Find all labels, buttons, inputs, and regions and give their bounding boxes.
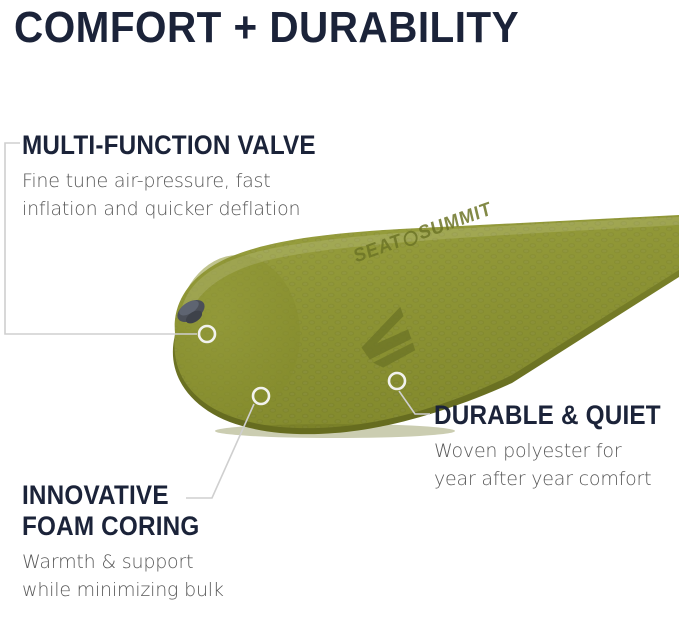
callout-valve-body: Fine tune air-pressure, fast inflation a… bbox=[22, 167, 348, 223]
callout-valve-heading: MULTI-FUNCTION VALVE bbox=[22, 130, 316, 161]
callout-durable-heading: DURABLE & QUIET bbox=[434, 400, 661, 431]
callout-foam: INNOVATIVE FOAM CORING Warmth & support … bbox=[22, 480, 224, 604]
callout-foam-heading: INNOVATIVE FOAM CORING bbox=[22, 480, 204, 542]
pad-ground-shadow bbox=[215, 424, 455, 438]
callout-durable-body: Woven polyester for year after year comf… bbox=[434, 437, 679, 493]
callout-durable: DURABLE & QUIET Woven polyester for year… bbox=[434, 400, 679, 493]
product-feature-infographic: COMFORT + DURABILITY bbox=[0, 0, 679, 618]
callout-foam-body: Warmth & support while minimizing bulk bbox=[22, 548, 224, 604]
pad-nose-highlight bbox=[176, 255, 300, 415]
brand-wordmark-ring bbox=[402, 228, 419, 247]
callout-valve: MULTI-FUNCTION VALVE Fine tune air-press… bbox=[22, 130, 348, 223]
page-title: COMFORT + DURABILITY bbox=[14, 2, 519, 54]
